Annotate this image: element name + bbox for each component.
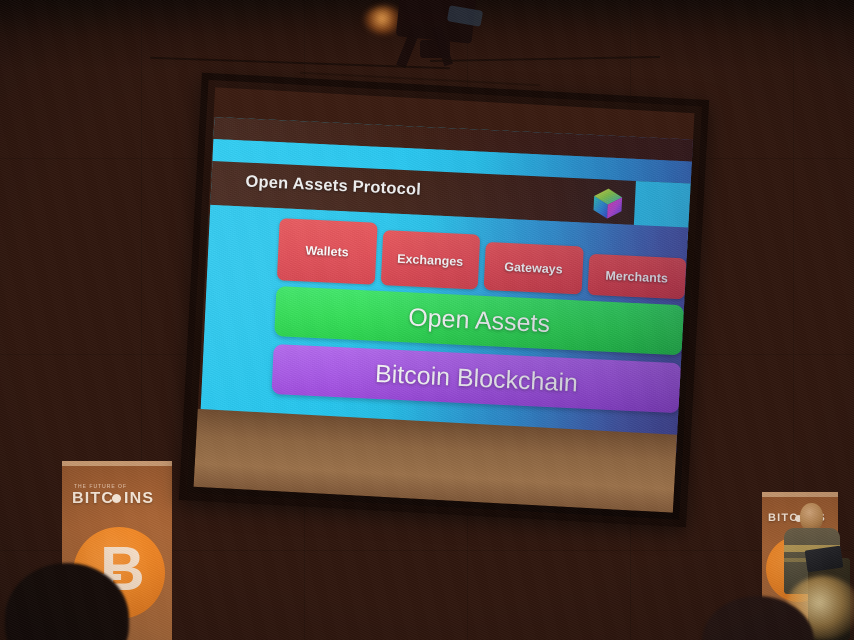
screen-surface: Open Assets Protocol <box>194 87 695 512</box>
screen-frame: Open Assets Protocol <box>179 73 709 528</box>
banner-left-top-bar <box>62 461 172 466</box>
stack-box-exchanges: Exchanges <box>380 230 480 290</box>
stack-bar-bitcoin-blockchain: Bitcoin Blockchain <box>271 344 681 413</box>
photo-scene: THE FUTURE OF BITC INS Ƀ BITC INS Ƀ <box>0 0 854 640</box>
banner-left-wordmark-prefix: BITC <box>72 490 114 508</box>
speaker-head <box>800 503 823 531</box>
stack-box-merchants: Merchants <box>587 254 686 300</box>
banner-left-wordmark-dot <box>112 494 121 503</box>
stack-box-wallets: Wallets <box>277 218 377 285</box>
ceiling-truss-arm-3 <box>420 40 450 58</box>
projection-screen: Open Assets Protocol <box>179 73 709 528</box>
banner-right-top-bar <box>762 492 838 497</box>
open-assets-cube-logo <box>592 187 623 220</box>
stack-box-gateways: Gateways <box>484 242 584 295</box>
slide: Open Assets Protocol <box>200 117 695 454</box>
architecture-stack: Wallets Exchanges Gateways Merchants Ope… <box>270 224 687 441</box>
banner-right-wordmark-prefix: BITC <box>768 512 798 524</box>
stack-bar-open-assets: Open Assets <box>274 286 684 355</box>
banner-left-wordmark-suffix: INS <box>124 490 154 508</box>
